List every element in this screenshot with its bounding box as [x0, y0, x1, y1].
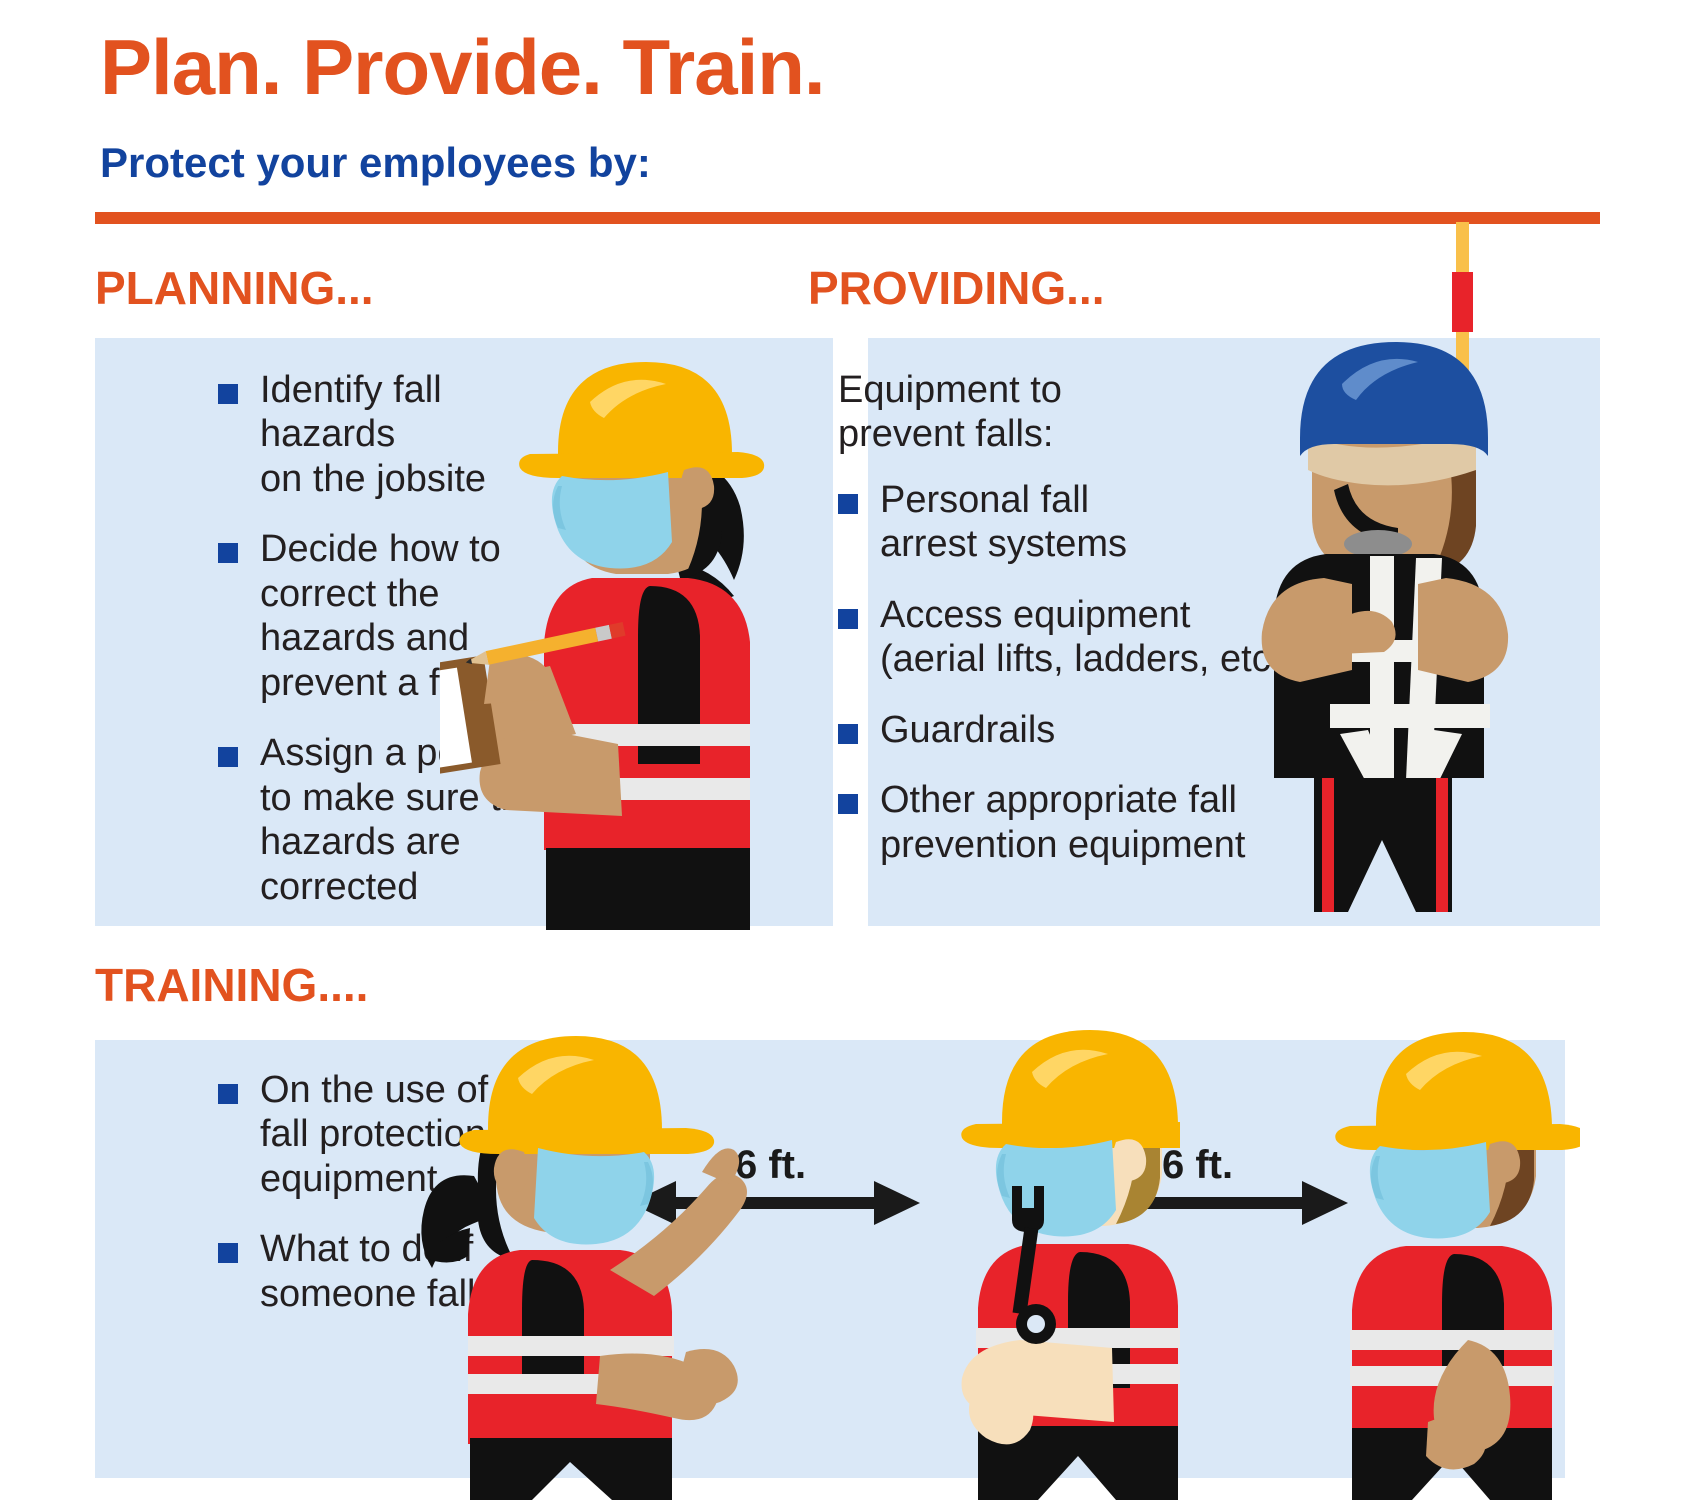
list-item-label: Other appropriate fall prevention equipm… — [880, 778, 1245, 867]
section-heading-planning: PLANNING... — [95, 265, 374, 311]
list-item-label: Guardrails — [880, 708, 1055, 752]
section-heading-providing: PROVIDING... — [808, 265, 1104, 311]
trainer-gesturing-illustration — [400, 960, 780, 1500]
bullet-square-icon — [838, 794, 858, 814]
bullet-square-icon — [218, 543, 238, 563]
page-subtitle: Protect your employees by: — [100, 142, 651, 184]
bullet-square-icon — [838, 609, 858, 629]
page-title: Plan. Provide. Train. — [100, 28, 825, 106]
bullet-square-icon — [218, 384, 238, 404]
worker-walking-illustration — [1280, 960, 1580, 1500]
infographic-root: Plan. Provide. Train. Protect your emplo… — [0, 0, 1689, 1500]
bullet-square-icon — [218, 1084, 238, 1104]
bullet-square-icon — [218, 1243, 238, 1263]
list-item-label: Personal fall arrest systems — [880, 478, 1127, 567]
worker-with-clipboard-illustration — [440, 350, 780, 930]
providing-intro-text: Equipment to prevent falls: — [838, 368, 1168, 457]
bullet-square-icon — [838, 724, 858, 744]
section-heading-training: TRAINING.... — [95, 962, 368, 1008]
worker-in-fall-arrest-harness-illustration — [1230, 222, 1530, 912]
bullet-square-icon — [838, 494, 858, 514]
bullet-square-icon — [218, 747, 238, 767]
worker-with-wrench-illustration — [880, 960, 1180, 1500]
